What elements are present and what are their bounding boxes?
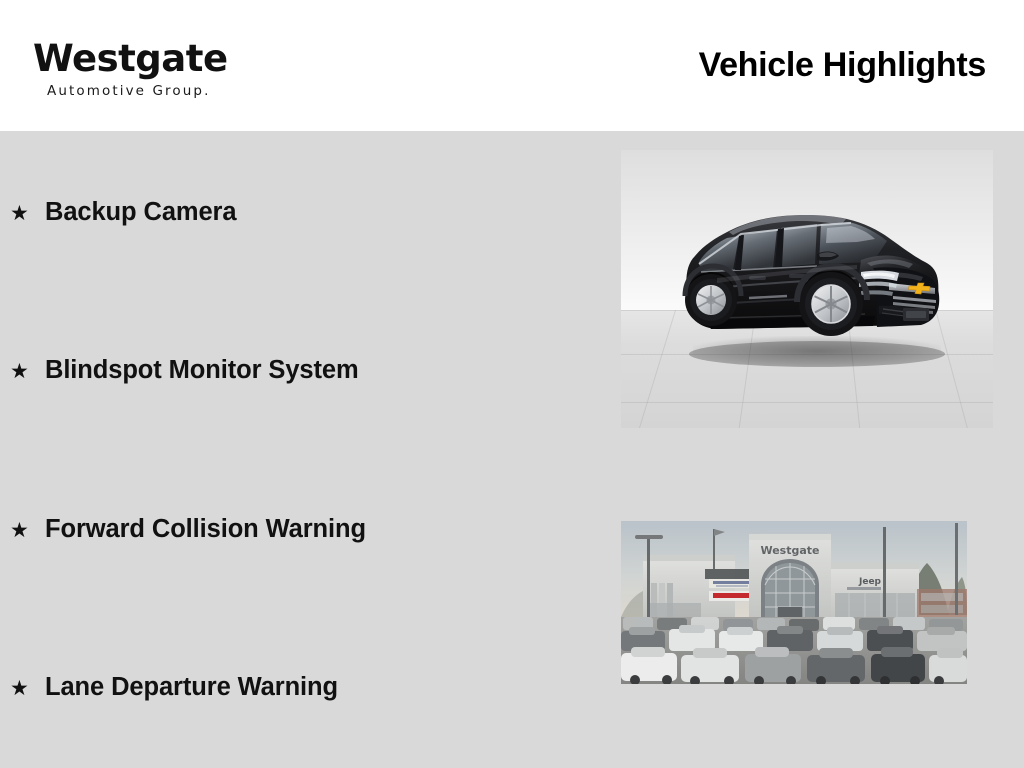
list-item: ★ Backup Camera — [10, 197, 236, 231]
slide-root: Westgate Automotive Group. Vehicle Highl… — [0, 0, 1024, 768]
vehicle-highlights-list: ★ Backup Camera ★ Blindspot Monitor Syst… — [0, 131, 600, 768]
list-item: ★ Blindspot Monitor System — [10, 355, 359, 389]
vehicle-photo[interactable] — [621, 150, 993, 428]
feature-label: Lane Departure Warning — [45, 672, 338, 702]
star-icon: ★ — [10, 516, 45, 546]
brand-name: Westgate — [33, 38, 263, 80]
westgate-logo[interactable]: Westgate Automotive Group. — [33, 38, 263, 100]
brand-tagline: Automotive Group. — [47, 82, 263, 100]
slide-body: ★ Backup Camera ★ Blindspot Monitor Syst… — [0, 131, 1024, 768]
star-icon: ★ — [10, 674, 45, 704]
dealership-illustration: Westgate Jeep — [621, 521, 967, 684]
header-bar: Westgate Automotive Group. Vehicle Highl… — [0, 0, 1024, 131]
feature-label: Blindspot Monitor System — [45, 355, 359, 385]
star-icon: ★ — [10, 357, 45, 387]
list-item: ★ Forward Collision Warning — [10, 514, 366, 548]
dealership-photo[interactable]: Westgate Jeep — [621, 521, 967, 684]
page-title: Vehicle Highlights — [699, 46, 986, 85]
star-icon: ★ — [10, 199, 45, 229]
list-item: ★ Lane Departure Warning — [10, 672, 338, 706]
feature-label: Forward Collision Warning — [45, 514, 366, 544]
feature-label: Backup Camera — [45, 197, 236, 227]
suv-illustration — [621, 150, 993, 428]
